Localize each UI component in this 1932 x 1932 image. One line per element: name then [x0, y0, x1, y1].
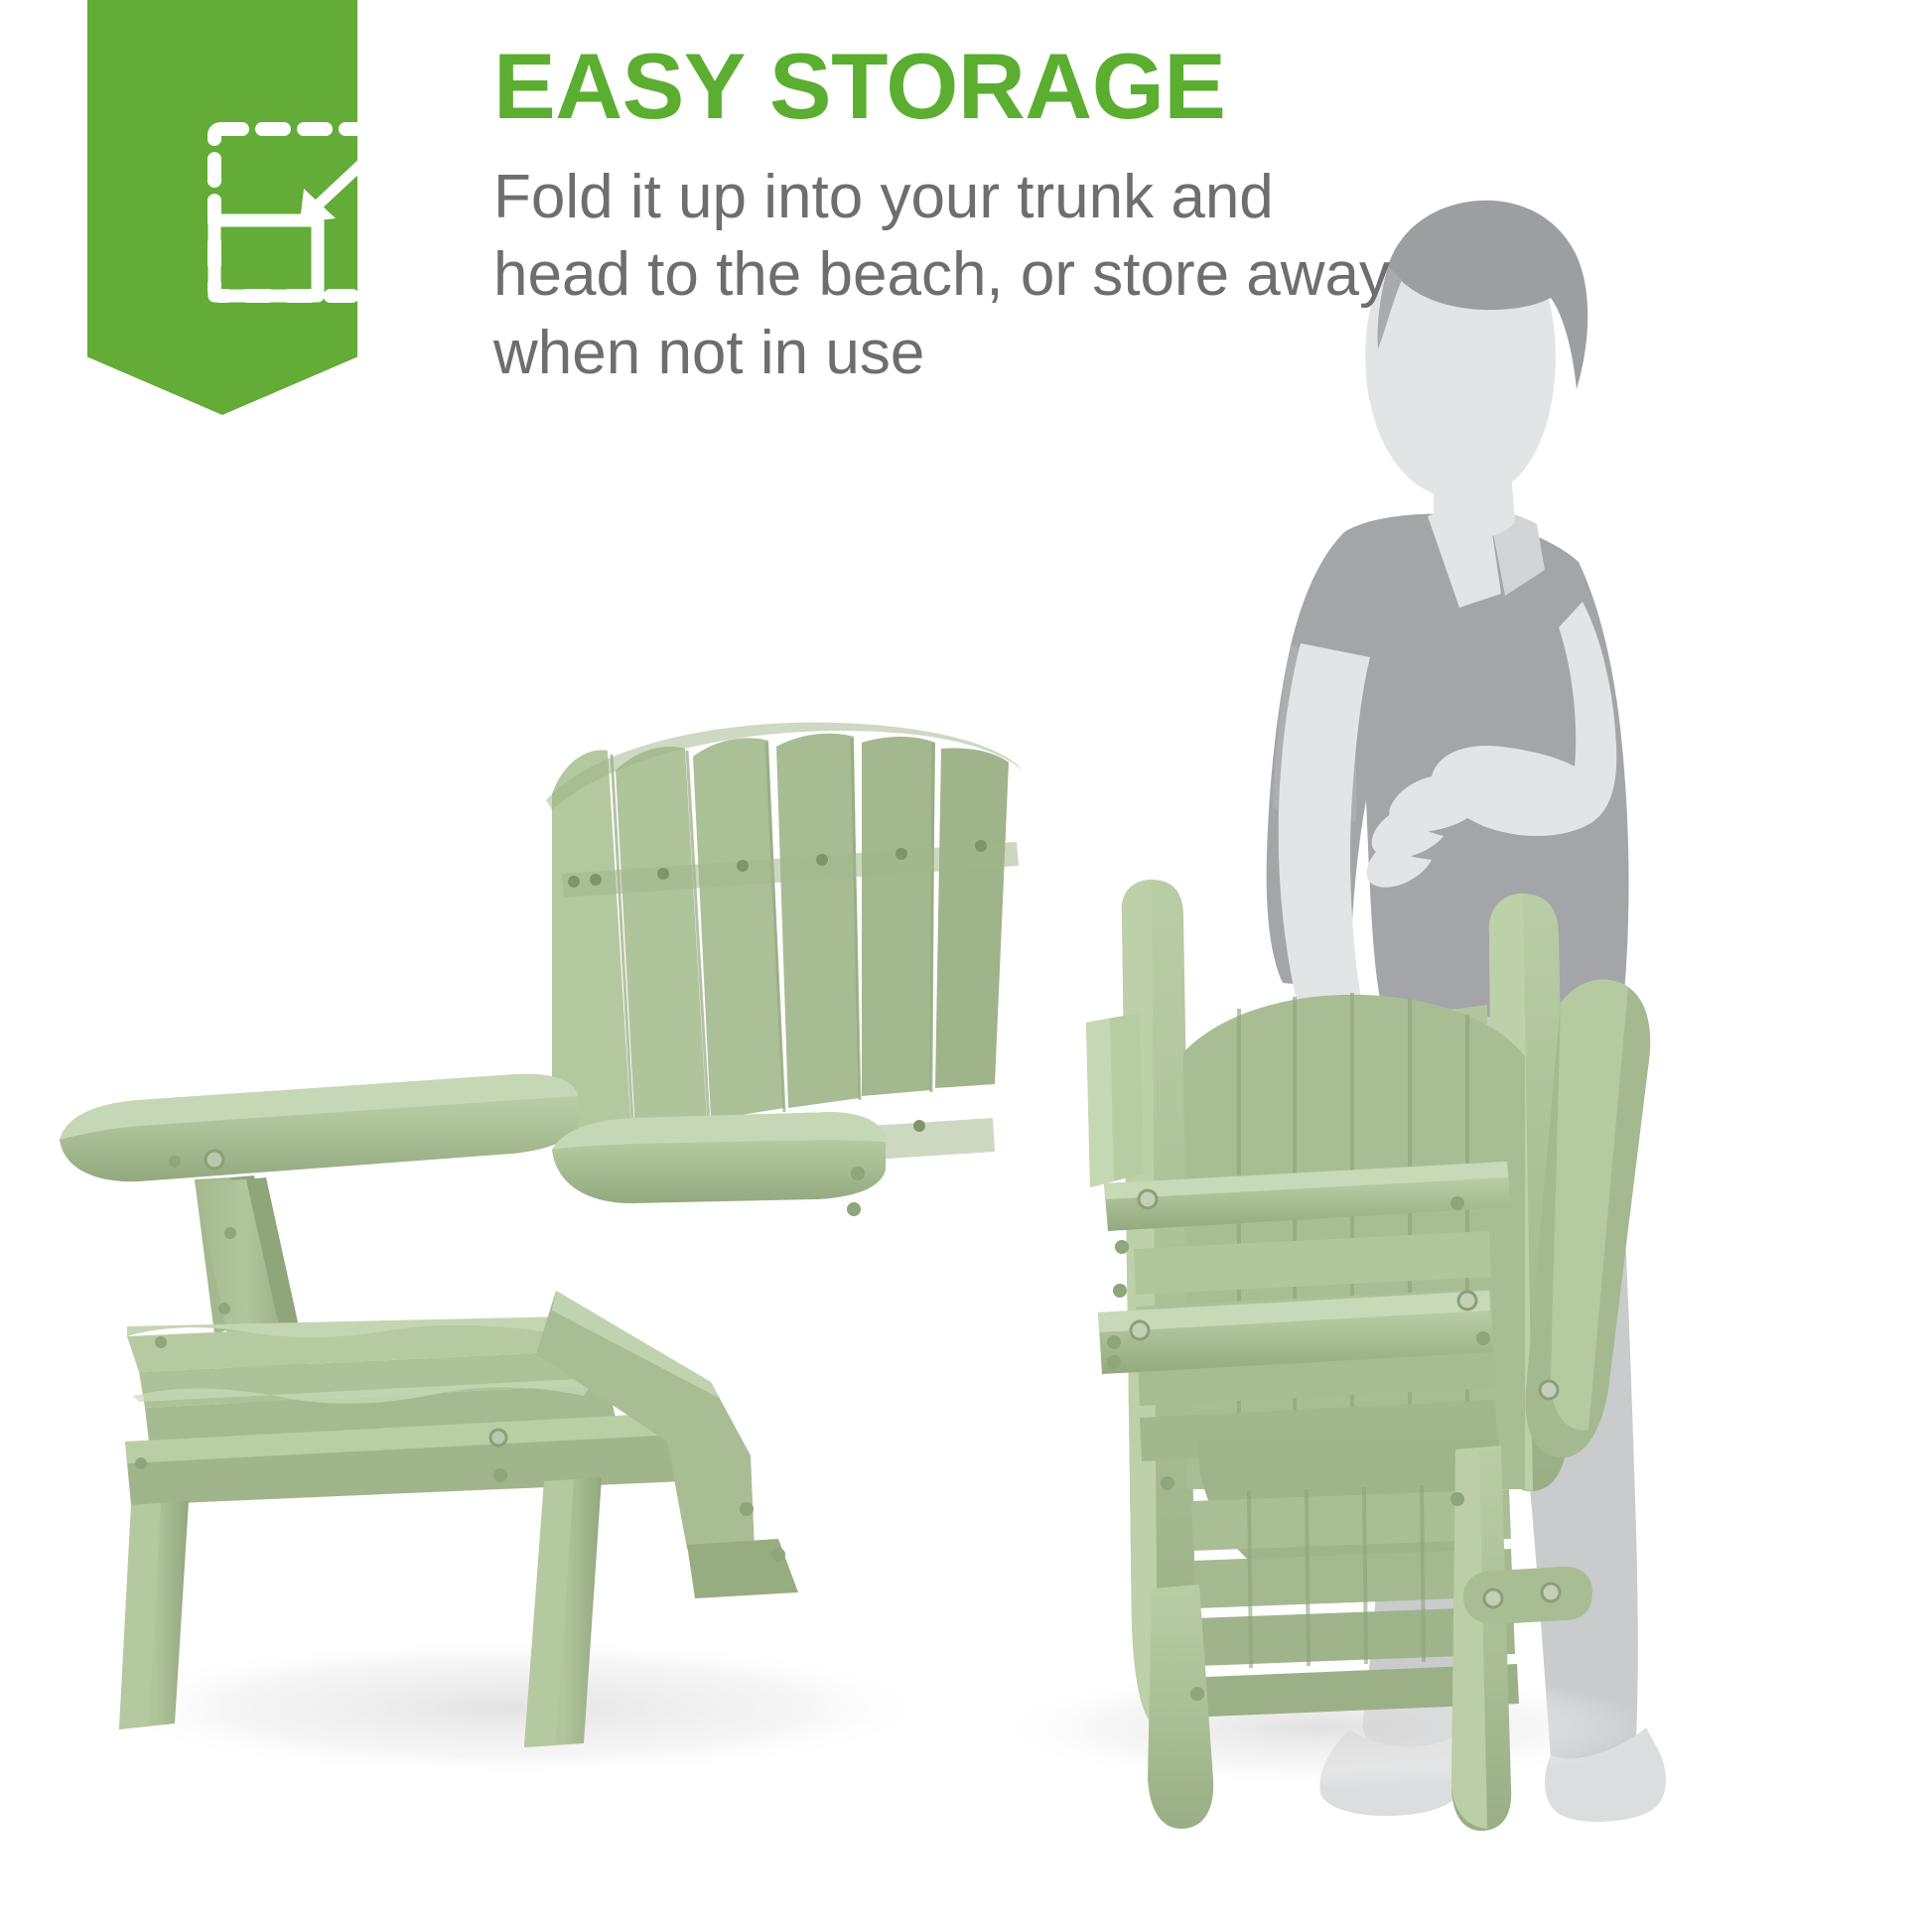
folded-adirondack-chair: [1086, 880, 1650, 1831]
folded-bracket-left: [1086, 1013, 1144, 1187]
floor-shadow-right: [993, 1668, 1648, 1787]
folded-right-post: [1489, 894, 1569, 1491]
page-title: EASY STORAGE: [493, 38, 1486, 135]
chair-left-armrest: [60, 1074, 580, 1334]
folded-back-fan-slats: [1239, 993, 1467, 1489]
chair-front-rail: [125, 1414, 685, 1505]
chair-hardware-screws: [135, 1151, 865, 1562]
chair-right-rear-leg: [524, 1477, 602, 1747]
chair-rear-right-foot: [687, 1539, 798, 1598]
folded-left-post: [1122, 880, 1195, 1729]
folded-arm-panel-right: [1525, 980, 1650, 1458]
chair-seat-stringer: [536, 1291, 755, 1549]
floor-shadow-left: [99, 1638, 933, 1777]
chair-left-front-leg: [195, 1177, 316, 1424]
feature-banner: [87, 0, 357, 415]
folded-left-leg: [1148, 1585, 1213, 1829]
shrink-to-fit-icon: [201, 119, 413, 310]
chair-right-armrest: [552, 1112, 886, 1203]
folded-bracket-right: [1430, 1005, 1489, 1181]
chair-back-slats: [546, 723, 1023, 1177]
chair-seat-slats: [127, 1316, 616, 1442]
folded-right-leg: [1451, 1446, 1511, 1831]
headline-block: EASY STORAGE Fold it up into your trunk …: [493, 38, 1486, 393]
folded-hinge-bar: [1463, 1567, 1592, 1624]
folded-chair-screws: [1107, 1190, 1560, 1701]
folded-seat-round: [1197, 1440, 1499, 1598]
folded-mid-brace: [1098, 1291, 1493, 1374]
folded-upper-rail: [1104, 1162, 1511, 1231]
open-adirondack-chair: [60, 723, 1023, 1747]
chair-left-rear-leg: [119, 1501, 189, 1729]
folded-chair-back-fan: [1183, 995, 1525, 1489]
chair-back-screws: [568, 840, 987, 1158]
folded-lower-slats: [1191, 1483, 1515, 1668]
folded-seat-slats: [1134, 1231, 1497, 1461]
person-silhouette: [1267, 201, 1666, 1822]
folded-bottom-rail: [1183, 1664, 1519, 1718]
infographic-canvas: EASY STORAGE Fold it up into your trunk …: [0, 0, 1932, 1932]
page-subtitle: Fold it up into your trunk and head to t…: [493, 159, 1417, 393]
